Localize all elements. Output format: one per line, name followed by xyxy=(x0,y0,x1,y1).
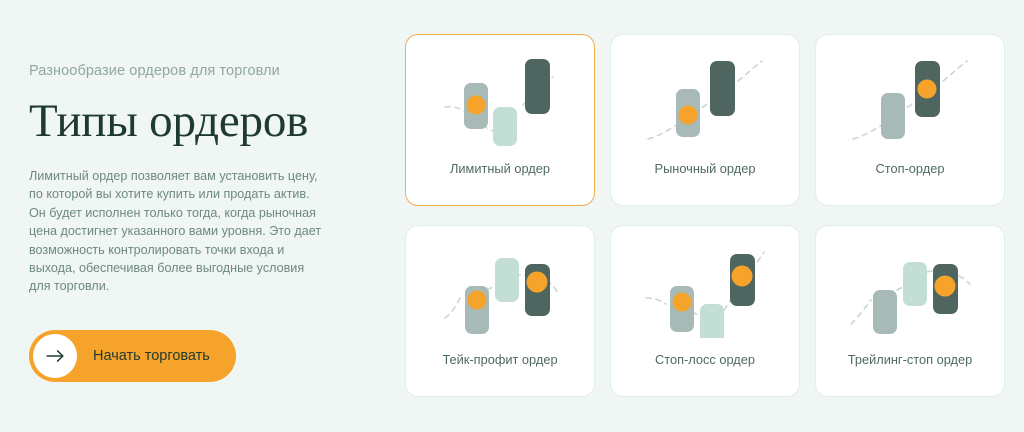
order-type-card-trailing-stop[interactable]: Трейлинг-стоп ордер xyxy=(815,225,1005,397)
order-types-grid-column: Лимитный ордер Рыночный ордер xyxy=(400,0,1024,397)
start-trading-label: Начать торговать xyxy=(93,348,210,364)
candlestick-take-profit-order-icon xyxy=(406,226,594,352)
order-type-card-label: Стоп-ордер xyxy=(876,161,945,205)
order-types-section: Разнообразие ордеров для торговли Типы о… xyxy=(0,0,1024,432)
candlestick-trailing-stop-order-icon xyxy=(816,226,1004,352)
arrow-right-icon xyxy=(33,334,77,378)
candlestick-stop-loss-order-icon xyxy=(611,226,799,352)
hero-description: Лимитный ордер позволяет вам установить … xyxy=(29,167,327,296)
candlestick-limit-order-icon xyxy=(406,35,594,161)
order-type-card-label: Тейк-профит ордер xyxy=(442,352,557,396)
order-type-card-market[interactable]: Рыночный ордер xyxy=(610,34,800,206)
section-eyebrow: Разнообразие ордеров для торговли xyxy=(29,62,400,80)
order-type-card-grid: Лимитный ордер Рыночный ордер xyxy=(405,34,1010,397)
order-type-card-take-profit[interactable]: Тейк-профит ордер xyxy=(405,225,595,397)
order-type-card-stop-loss[interactable]: Стоп-лосс ордер xyxy=(610,225,800,397)
candlestick-stop-order-icon xyxy=(816,35,1004,161)
candlestick-market-order-icon xyxy=(611,35,799,161)
page-title: Типы ордеров xyxy=(29,93,400,149)
order-type-card-limit[interactable]: Лимитный ордер xyxy=(405,34,595,206)
order-type-card-label: Стоп-лосс ордер xyxy=(655,352,755,396)
start-trading-button[interactable]: Начать торговать xyxy=(29,330,236,382)
order-type-card-label: Рыночный ордер xyxy=(655,161,756,205)
order-type-card-stop[interactable]: Стоп-ордер xyxy=(815,34,1005,206)
order-type-card-label: Лимитный ордер xyxy=(450,161,550,205)
order-type-card-label: Трейлинг-стоп ордер xyxy=(848,352,972,396)
hero-column: Разнообразие ордеров для торговли Типы о… xyxy=(0,0,400,382)
